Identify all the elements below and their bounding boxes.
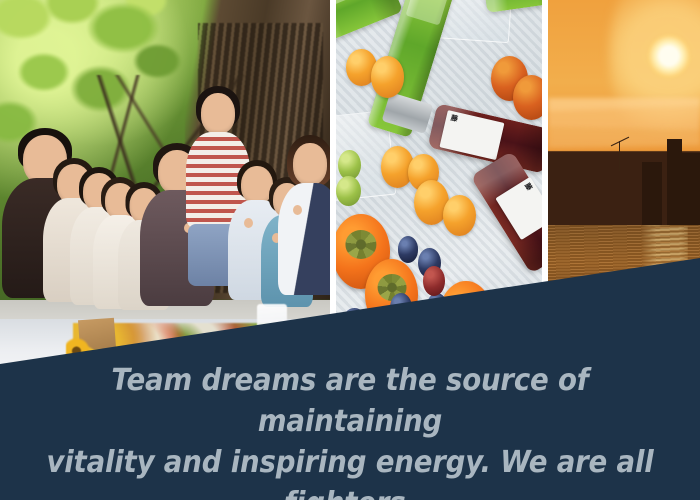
orange-fruit <box>371 56 404 97</box>
orange-fruit <box>443 195 476 236</box>
construction-crane <box>619 141 620 171</box>
person-figure <box>284 135 330 323</box>
building-silhouette <box>667 139 682 233</box>
bottle-label-text: 藤 <box>450 113 460 125</box>
orange-fruit <box>513 75 542 120</box>
team-picnic-photo <box>0 0 330 375</box>
motivational-poster: 藤 藤 <box>0 0 700 500</box>
city-skyline-silhouette <box>548 135 700 233</box>
red-grape <box>423 266 446 296</box>
building-silhouette <box>642 162 662 232</box>
quote-text: Team dreams are the source of maintainin… <box>28 360 672 500</box>
bottle-label-text: 藤 <box>521 181 534 193</box>
blueberry <box>398 236 419 262</box>
green-grape <box>336 176 361 206</box>
building-silhouette <box>682 153 700 233</box>
sun <box>647 34 691 78</box>
